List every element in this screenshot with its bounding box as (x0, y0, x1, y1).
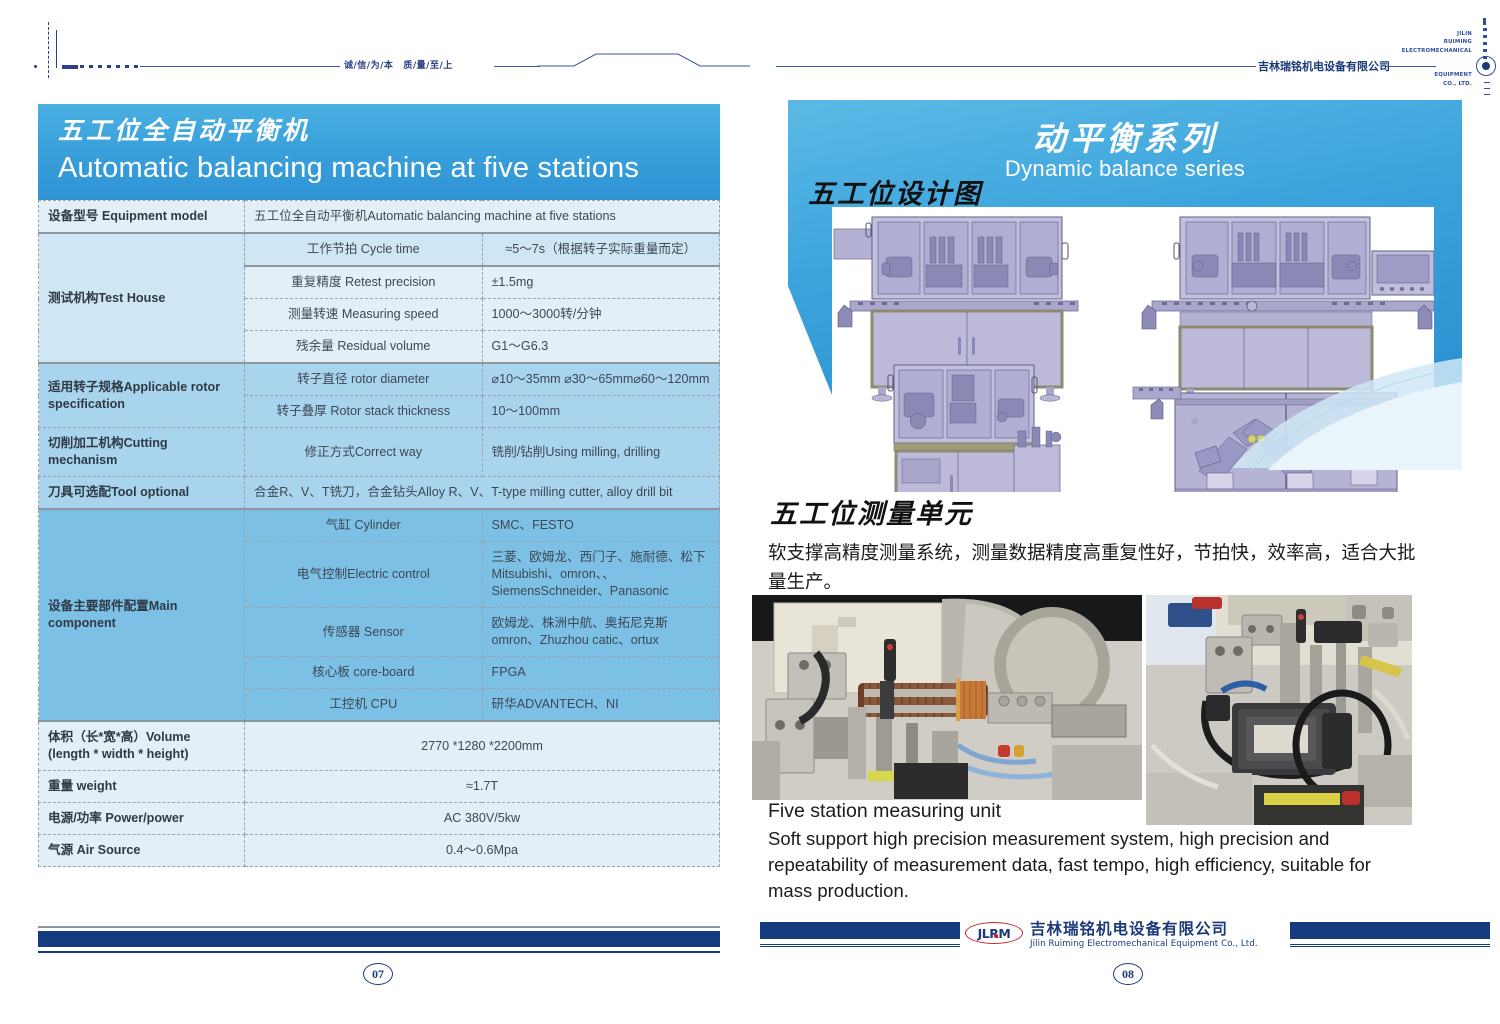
spec-subfield: 电气控制Electric control (245, 542, 483, 608)
spec-table: 设备型号 Equipment model五工位全自动平衡机Automatic b… (38, 200, 720, 867)
spec-label: 刀具可选配Tool optional (39, 477, 245, 510)
table-row: 设备主要部件配置Main component气缸 CylinderSMC、FES… (39, 509, 720, 542)
machine-diagram-panel (832, 207, 1434, 492)
header-rule-left (140, 66, 340, 67)
left-title-cn: 五工位全自动平衡机 (58, 116, 720, 148)
header-tick-3 (1484, 94, 1490, 95)
table-row: 体积（长*宽*高）Volume (length * width * height… (39, 721, 720, 771)
spec-value: ≈1.7T (245, 771, 720, 803)
spec-subfield: 传感器 Sensor (245, 608, 483, 657)
header-tick-2 (1484, 88, 1490, 89)
spec-value: 研华ADVANTECH、NI (482, 689, 720, 722)
slogan-part-1: 诚/信/为/本 (344, 61, 393, 71)
spec-subfield: 修正方式Correct way (245, 428, 483, 477)
left-title-banner: 五工位全自动平衡机 Automatic balancing machine at… (38, 104, 720, 200)
spec-subfield: 重复精度 Retest precision (245, 266, 483, 299)
spec-label: 电源/功率 Power/power (39, 803, 245, 835)
page-number-left: 07 (363, 963, 393, 985)
photo-rotor-measurement (752, 595, 1142, 800)
spec-value: ≈5～7s（根据转子实际重量而定） (482, 233, 720, 266)
spec-value: ±1.5mg (482, 266, 720, 299)
measuring-unit-body-en: Soft support high precision measurement … (768, 826, 1420, 904)
table-row: 适用转子规格Applicable rotor specification转子直径… (39, 363, 720, 396)
footer-company-cn: 吉林瑞铭机电设备有限公司 (1030, 920, 1258, 938)
measuring-unit-heading: 五工位测量单元 (770, 492, 973, 531)
photo-gallery (750, 595, 1430, 825)
spec-value: 0.4～0.6Mpa (245, 835, 720, 867)
spec-value: G1～G6.3 (482, 331, 720, 364)
left-footer-topline (38, 926, 720, 928)
header-target-icon (1476, 56, 1496, 76)
spec-value: ⌀10～35mm ⌀30～65mm⌀60～120mm (482, 363, 720, 396)
spec-label: 适用转子规格Applicable rotor specification (39, 363, 245, 428)
banner-series-cn: 动平衡系列 (788, 112, 1462, 160)
photo-caption-en: Five station measuring unit (768, 800, 1001, 823)
footer-rule-left (760, 944, 960, 947)
spec-label: 测试机构Test House (39, 233, 245, 363)
spec-label: 切削加工机构Cutting mechanism (39, 428, 245, 477)
spec-subfield: 测量转速 Measuring speed (245, 299, 483, 331)
header-slogan: 诚/信/为/本质/量/至/上 (344, 58, 453, 71)
table-row: 刀具可选配Tool optional合金R、V、T铣刀，合金钻头Alloy R、… (39, 477, 720, 510)
spec-subfield: 核心板 core-board (245, 657, 483, 689)
footer-bar-left (760, 922, 960, 939)
spec-label: 体积（长*宽*高）Volume (length * width * height… (39, 721, 245, 771)
spec-label: 重量 weight (39, 771, 245, 803)
company-en-line-3: ELECTROMECHANICAL (1362, 47, 1472, 55)
spec-value: 三菱、欧姆龙、西门子、施耐德、松下 Mitsubishi、omron、、Siem… (482, 542, 720, 608)
banner-section-cn: 五工位设计图 (808, 172, 982, 211)
left-title-en: Automatic balancing machine at five stat… (58, 148, 720, 188)
spec-value: 2770 *1280 *2200mm (245, 721, 720, 771)
spec-label: 设备型号 Equipment model (39, 201, 245, 234)
spec-value: 铣削/钻削Using milling, drilling (482, 428, 720, 477)
header-dash-thick (62, 65, 78, 69)
left-page: 诚/信/为/本质/量/至/上 五工位全自动平衡机 Automatic balan… (0, 0, 750, 1024)
left-footer-rule (38, 951, 720, 953)
spec-value: SMC、FESTO (482, 509, 720, 542)
left-header-ornament: 诚/信/为/本质/量/至/上 (0, 0, 750, 96)
slogan-part-2: 质/量/至/上 (403, 61, 452, 71)
spec-subfield: 工作节拍 Cycle time (245, 233, 483, 266)
spec-value: FPGA (482, 657, 720, 689)
header-dashed-vline (48, 22, 49, 78)
footer-company-text: 吉林瑞铭机电设备有限公司 Jilin Ruiming Electromechan… (1030, 920, 1258, 950)
right-page: 吉林瑞铭机电设备有限公司 JILIN RUIMING ELECTROMECHAN… (750, 0, 1500, 1024)
spec-label: 气源 Air Source (39, 835, 245, 867)
right-banner: 动平衡系列 Dynamic balance series 五工位设计图 (788, 100, 1462, 400)
right-header-ornament: 吉林瑞铭机电设备有限公司 JILIN RUIMING ELECTROMECHAN… (750, 0, 1500, 96)
table-row: 气源 Air Source0.4～0.6Mpa (39, 835, 720, 867)
table-row: 切削加工机构Cutting mechanism修正方式Correct way铣削… (39, 428, 720, 477)
right-footer: JLRM 吉林瑞铭机电设备有限公司 Jilin Ruiming Electrom… (760, 922, 1490, 956)
spec-subfield: 工控机 CPU (245, 689, 483, 722)
left-footer-bar (38, 931, 720, 947)
spec-value: 10～100mm (482, 396, 720, 428)
footer-rule-right (1290, 944, 1490, 947)
machine-drawings (832, 207, 1434, 492)
footer-company-en: Jilin Ruiming Electromechanical Equipmen… (1030, 938, 1258, 950)
header-dot (34, 65, 37, 68)
spec-subfield: 残余量 Residual volume (245, 331, 483, 364)
right-header-company-en: JILIN RUIMING ELECTROMECHANICAL EQUIPMEN… (1362, 30, 1472, 88)
company-en-line-1: JILIN (1362, 30, 1472, 38)
company-logo-icon: JLRM (965, 922, 1023, 944)
logo-text: JLRM (965, 922, 1023, 944)
header-tick-1 (1484, 82, 1490, 83)
table-row: 设备型号 Equipment model五工位全自动平衡机Automatic b… (39, 201, 720, 234)
spec-label: 设备主要部件配置Main component (39, 509, 245, 721)
company-en-line-4: EQUIPMENT (1362, 71, 1472, 79)
spec-subfield: 转子叠厚 Rotor stack thickness (245, 396, 483, 428)
company-en-line-2: RUIMING (1362, 38, 1472, 46)
table-row: 测试机构Test House工作节拍 Cycle time≈5～7s（根据转子实… (39, 233, 720, 266)
header-step-rule (538, 49, 750, 71)
spec-subfield: 转子直径 rotor diameter (245, 363, 483, 396)
spec-value: 合金R、V、T铣刀，合金钻头Alloy R、V、T-type milling c… (245, 477, 720, 510)
photo-servo-motor-unit (1146, 595, 1412, 825)
spec-value: 五工位全自动平衡机Automatic balancing machine at … (245, 201, 720, 234)
table-row: 电源/功率 Power/powerAC 380V/5kw (39, 803, 720, 835)
company-en-line-5: CO., LTD. (1362, 80, 1472, 88)
brochure-spread: 诚/信/为/本质/量/至/上 五工位全自动平衡机 Automatic balan… (0, 0, 1500, 1024)
footer-logo-block: JLRM 吉林瑞铭机电设备有限公司 Jilin Ruiming Electrom… (965, 920, 1285, 954)
right-header-rule-left (776, 66, 1256, 67)
page-number-right: 08 (1113, 963, 1143, 985)
header-rule-mid (494, 66, 540, 67)
spec-subfield: 气缸 Cylinder (245, 509, 483, 542)
table-row: 重量 weight≈1.7T (39, 771, 720, 803)
spec-value: 欧姆龙、株洲中航、奥拓尼克斯omron、Zhuzhou catic、ortux (482, 608, 720, 657)
measuring-unit-body-cn: 软支撑高精度测量系统，测量数据精度高重复性好，节拍快，效率高，适合大批量生产。 (768, 540, 1428, 598)
footer-bar-right (1290, 922, 1490, 939)
header-solid-vline (56, 30, 57, 68)
spec-value: 1000～3000转/分钟 (482, 299, 720, 331)
spec-value: AC 380V/5kw (245, 803, 720, 835)
